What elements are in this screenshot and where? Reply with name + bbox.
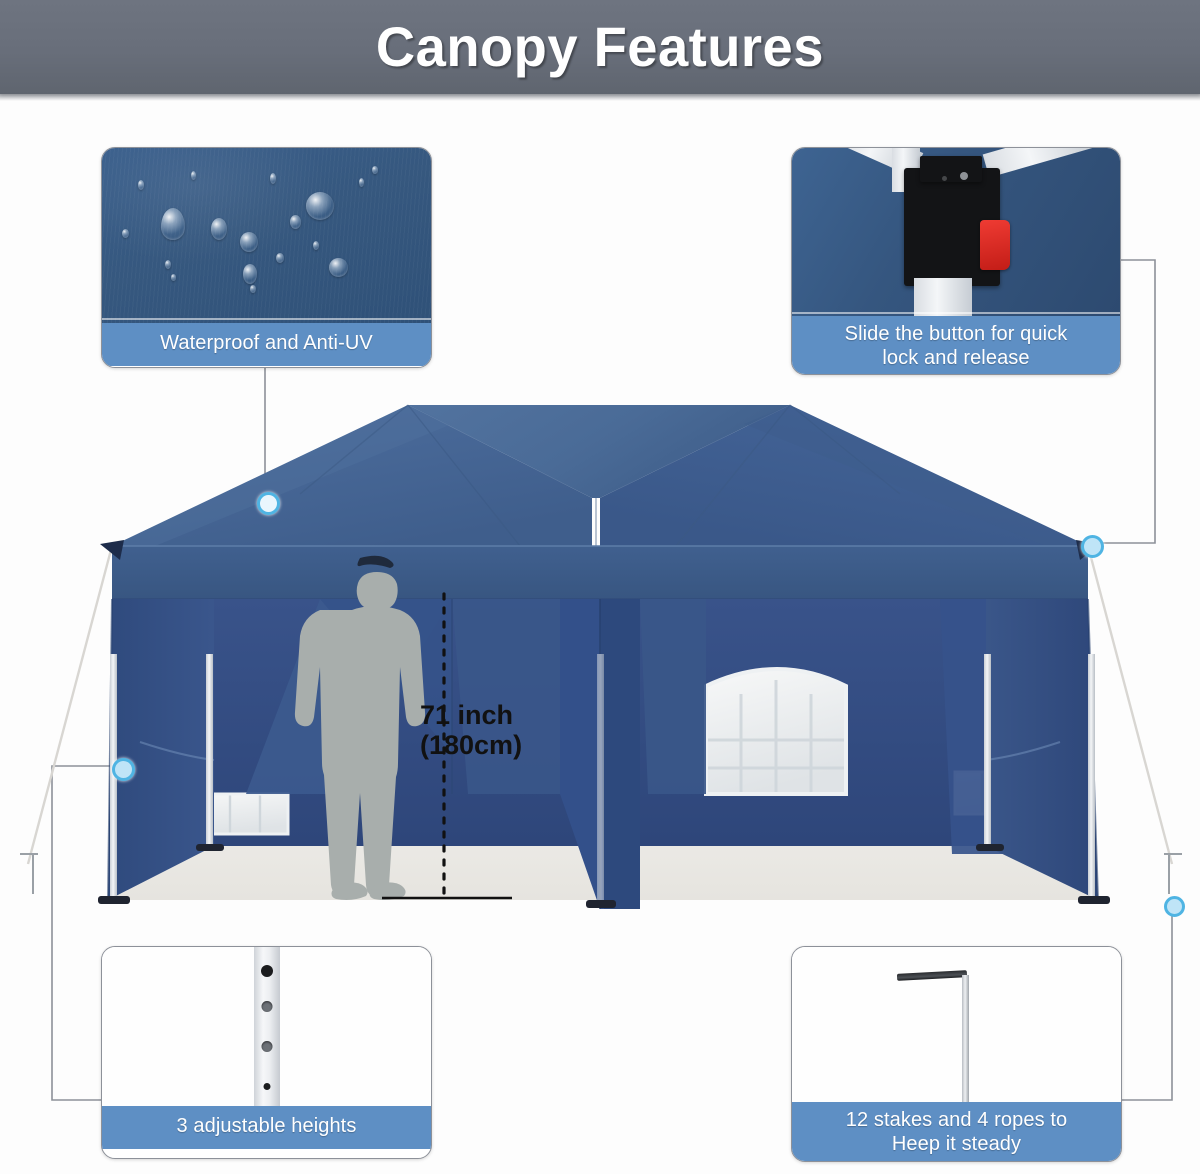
callout-lock-caption-line2: lock and release <box>796 347 1116 371</box>
connector-stakes <box>1119 904 1172 1100</box>
callout-stakes[interactable]: 12 stakes and 4 ropes to Heep it steady <box>791 946 1122 1162</box>
guy-rope-left <box>28 546 112 864</box>
callout-stakes-caption-line1: 12 stakes and 4 ropes to <box>796 1109 1117 1133</box>
stake-right <box>1164 854 1182 894</box>
callout-waterproof[interactable]: Waterproof and Anti-UV <box>101 147 432 368</box>
page-title: Canopy Features <box>376 19 824 75</box>
callout-lock-caption-line1: Slide the button for quick <box>796 323 1116 347</box>
quick-lock-button-photo <box>792 148 1120 316</box>
height-label: 71 inch (180cm) <box>420 700 522 760</box>
callout-stakes-caption-line2: Heep it steady <box>796 1133 1117 1157</box>
callout-lock[interactable]: Slide the button for quick lock and rele… <box>791 147 1121 375</box>
canopy-roof <box>100 405 1100 599</box>
marker-roof-waterproof <box>257 492 280 515</box>
height-label-cm: (180cm) <box>420 730 522 760</box>
callout-waterproof-caption: Waterproof and Anti-UV <box>102 323 431 366</box>
callout-heights-caption: 3 adjustable heights <box>102 1106 431 1149</box>
marker-corner-lock <box>1081 535 1104 558</box>
callout-heights[interactable]: 3 adjustable heights <box>101 946 432 1159</box>
adjustable-height-pole-photo <box>102 947 431 1106</box>
window-arched <box>706 669 846 794</box>
ground-stake-photo <box>792 947 1121 1102</box>
header-band: Canopy Features <box>0 0 1200 94</box>
callout-stakes-caption: 12 stakes and 4 ropes to Heep it steady <box>792 1102 1121 1162</box>
waterproof-fabric-droplets-photo <box>102 148 431 323</box>
guy-rope-right <box>1088 546 1172 864</box>
callout-lock-caption: Slide the button for quick lock and rele… <box>792 316 1120 375</box>
height-label-inches: 71 inch <box>420 700 522 730</box>
marker-wall-heights <box>112 758 135 781</box>
infographic-page: Canopy Features <box>0 0 1200 1174</box>
marker-stake-ropes <box>1164 896 1185 917</box>
